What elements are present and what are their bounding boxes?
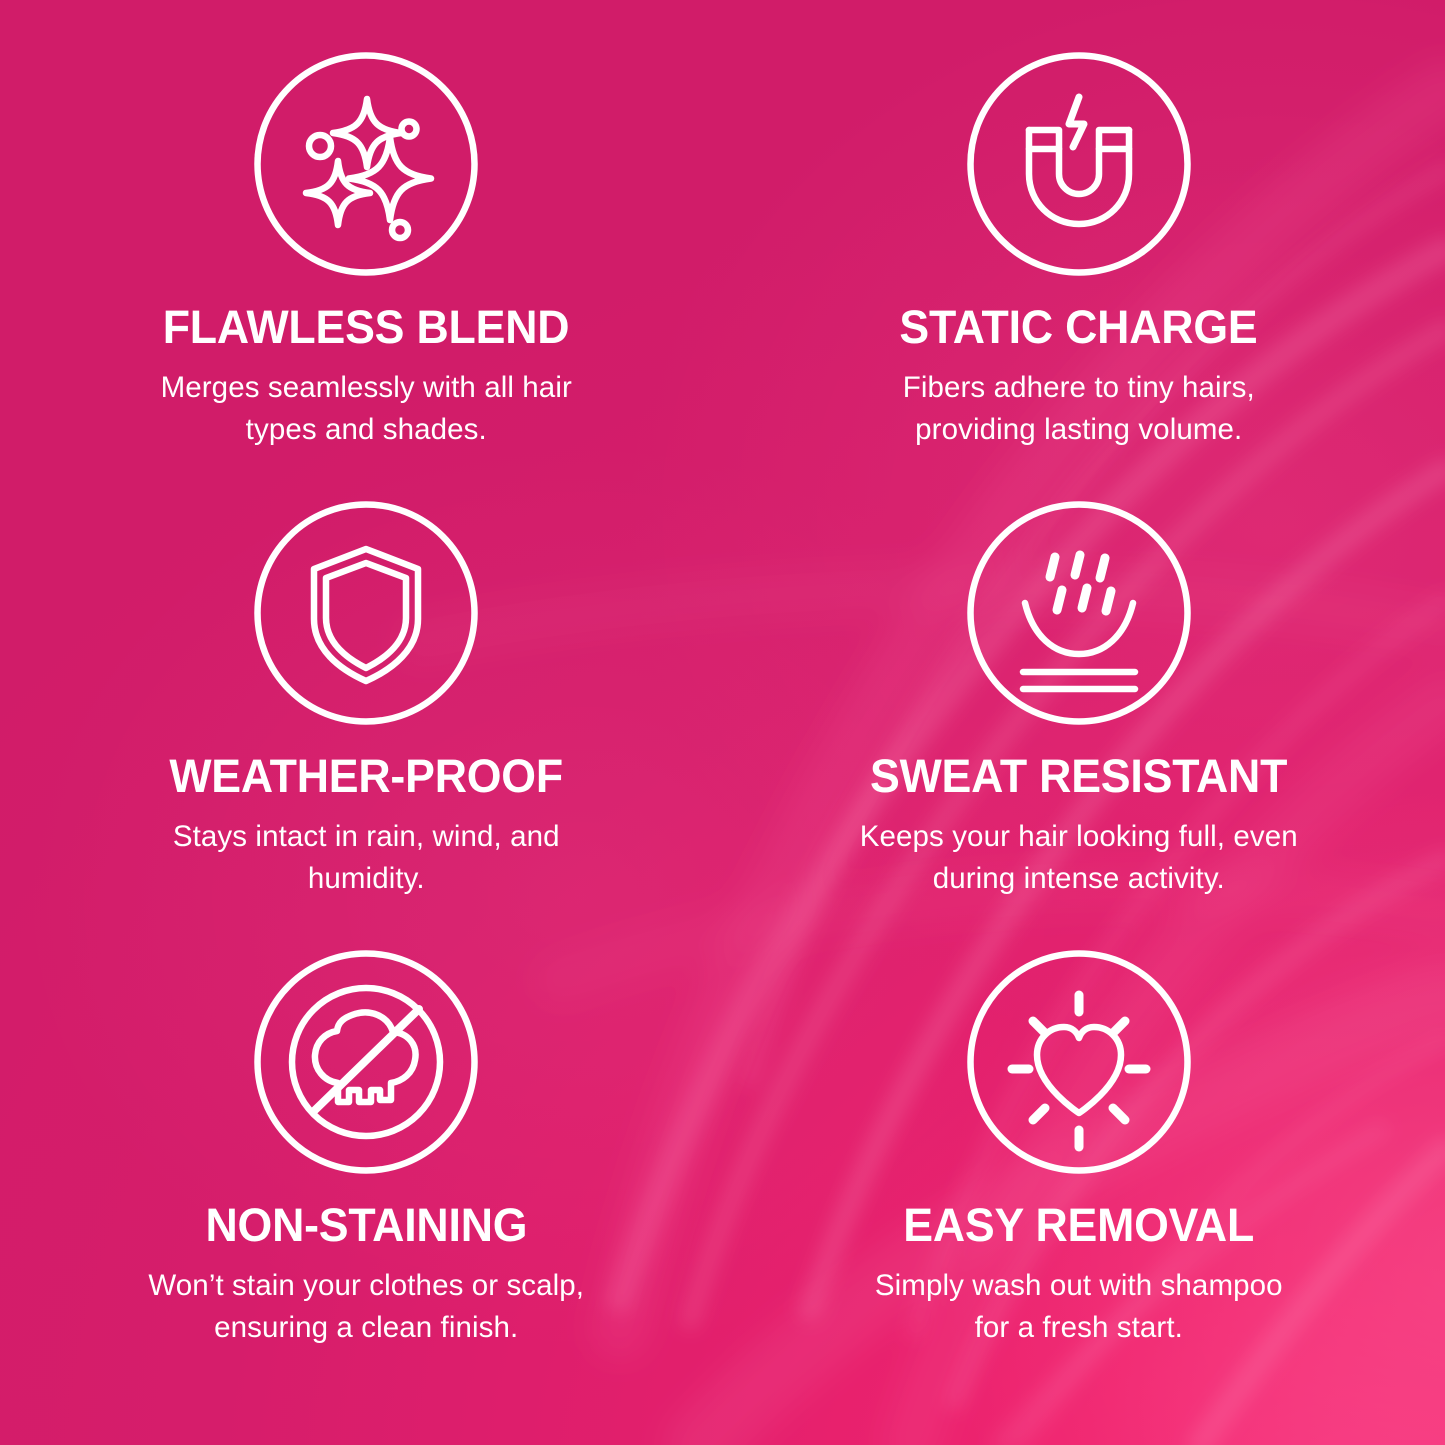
feature-description: Fibers adhere to tiny hairs, providing l…	[854, 367, 1304, 451]
feature-card-sweat-resistant: SWEAT RESISTANT Keeps your hair looking …	[723, 501, 1436, 950]
feature-title: STATIC CHARGE	[900, 303, 1258, 350]
feature-card-easy-removal: EASY REMOVAL Simply wash out with shampo…	[723, 950, 1436, 1399]
feature-description: Simply wash out with shampoo for a fresh…	[854, 1265, 1304, 1349]
feature-description: Keeps your hair looking full, even durin…	[854, 816, 1304, 900]
sparkle-icon	[254, 52, 478, 276]
feature-description: Stays intact in rain, wind, and humidity…	[146, 816, 586, 900]
radiant-heart-icon	[967, 950, 1191, 1174]
feature-card-weather-proof: WEATHER-PROOF Stays intact in rain, wind…	[10, 501, 723, 950]
shield-icon	[254, 501, 478, 725]
feature-card-static-charge: STATIC CHARGE Fibers adhere to tiny hair…	[723, 52, 1436, 501]
sweat-droplets-icon	[967, 501, 1191, 725]
magnet-static-icon	[967, 52, 1191, 276]
feature-title: NON-STAINING	[205, 1201, 527, 1248]
feature-grid: FLAWLESS BLEND Merges seamlessly with al…	[0, 0, 1445, 1445]
feature-card-flawless-blend: FLAWLESS BLEND Merges seamlessly with al…	[10, 52, 723, 501]
feature-title: SWEAT RESISTANT	[870, 752, 1287, 799]
feature-card-non-staining: NON-STAINING Won’t stain your clothes or…	[10, 950, 723, 1399]
no-stain-icon	[254, 950, 478, 1174]
feature-title: WEATHER-PROOF	[169, 752, 563, 799]
feature-title: FLAWLESS BLEND	[163, 303, 570, 350]
feature-description: Merges seamlessly with all hair types an…	[146, 367, 586, 451]
feature-title: EASY REMOVAL	[903, 1201, 1254, 1248]
feature-description: Won’t stain your clothes or scalp, ensur…	[146, 1265, 586, 1349]
